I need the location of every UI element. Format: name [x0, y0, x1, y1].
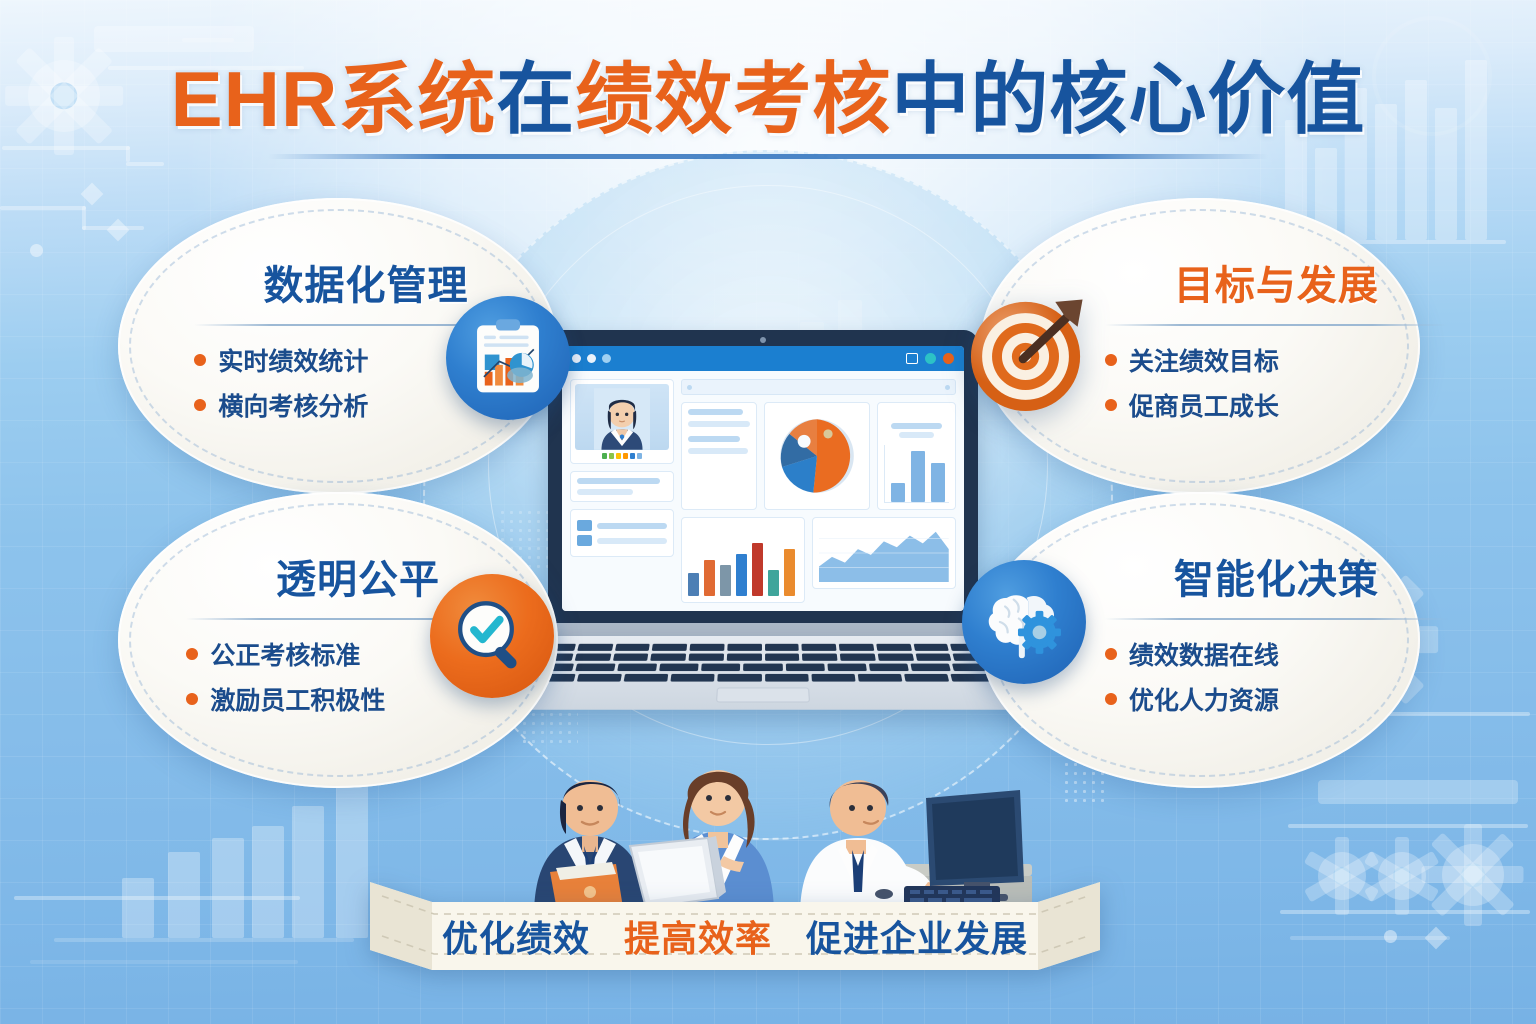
bullet-text: 公正考核标准 [210, 636, 360, 672]
window-controls[interactable] [572, 354, 611, 363]
bar-series [884, 445, 949, 503]
list-item: 绩效数据在线 [1105, 636, 1448, 672]
form-fields-tile [681, 402, 757, 510]
profile-fields-tile [570, 471, 674, 502]
title-segment-1: 系统 [338, 55, 496, 143]
title-segment-2: 在 [496, 55, 575, 143]
card-divider [1105, 618, 1448, 620]
bullet-text: 横向考核分析 [218, 387, 368, 423]
bullet-dot-icon [1105, 354, 1117, 366]
ribbon-phrase-0: 优化绩效 [442, 910, 590, 962]
window-icon[interactable] [906, 353, 918, 364]
laptop-lid [548, 330, 978, 623]
avatar-rating-bars [575, 453, 669, 459]
combo-bar-chart [681, 517, 805, 603]
screen [562, 346, 964, 611]
list-item [577, 520, 667, 531]
card-bullet-list: 关注绩效目标 促商员工成长 [1105, 342, 1448, 423]
bullet-dot-icon [1105, 648, 1117, 660]
title-underline [268, 154, 1268, 159]
title-segment-0: EHR [171, 55, 339, 143]
bar-series [688, 538, 795, 596]
ribbon-phrase-1: 提高效率 [624, 910, 772, 962]
dashboard-row-lower [681, 517, 956, 603]
dashboard-row-upper [681, 402, 956, 510]
bullet-dot-icon [186, 693, 198, 705]
teal-dot-icon[interactable] [925, 353, 936, 364]
list-item: 优化人力资源 [1105, 681, 1448, 717]
laptop-dashboard [548, 330, 978, 714]
list-tile [570, 509, 674, 557]
bullet-dot-icon [194, 354, 206, 366]
bullet-dot-icon [194, 399, 206, 411]
bullet-dot-icon [1105, 693, 1117, 705]
dashboard-right-column [681, 379, 956, 603]
bullet-text: 促商员工成长 [1129, 387, 1279, 423]
webcam-icon [760, 337, 766, 343]
card-heading: 目标与发展 [1105, 253, 1448, 311]
target-arrow-icon [966, 292, 1090, 416]
search-input[interactable] [681, 379, 956, 395]
brain-gear-icon [962, 560, 1086, 684]
card-divider [1105, 324, 1448, 326]
title-segment-3: 绩效考核 [575, 55, 891, 143]
dashboard-body [562, 371, 964, 611]
bottom-ribbon-banner: 优化绩效 提高效率 促进企业发展 [370, 872, 1100, 984]
bullet-text: 绩效数据在线 [1129, 636, 1279, 672]
infographic-poster: EHR系统在绩效考核中的核心价值 数据化管理 实时绩效统计 横向考核分析 透明公… [0, 0, 1536, 1024]
dashboard-left-column [570, 379, 674, 603]
area-chart [812, 517, 956, 589]
titlebar-actions[interactable] [906, 353, 954, 364]
pie-chart [764, 402, 870, 510]
avatar [570, 379, 674, 464]
list-item: 关注绩效目标 [1105, 342, 1448, 378]
list-item: 促商员工成长 [1105, 387, 1448, 423]
bar-chart [877, 402, 956, 510]
bullet-dot-icon [1105, 399, 1117, 411]
card-heading: 智能化决策 [1105, 547, 1448, 605]
magnifier-check-icon [430, 574, 554, 698]
ribbon-phrase-2: 促进企业发展 [806, 910, 1028, 962]
bullet-text: 激励员工积极性 [210, 681, 385, 717]
poster-header: EHR系统在绩效考核中的核心价值 [0, 60, 1536, 159]
bullet-text: 关注绩效目标 [1129, 342, 1279, 378]
bullet-text: 实时绩效统计 [218, 342, 368, 378]
page-title: EHR系统在绩效考核中的核心价值 [0, 60, 1536, 138]
app-titlebar [562, 346, 964, 371]
card-bullet-list: 绩效数据在线 优化人力资源 [1105, 636, 1448, 717]
orange-dot-icon[interactable] [943, 353, 954, 364]
list-item [577, 535, 667, 546]
title-segment-4: 中的核心价值 [891, 55, 1365, 143]
clipboard-chart-icon [446, 296, 570, 420]
ribbon-text: 优化绩效 提高效率 促进企业发展 [370, 880, 1100, 992]
bullet-text: 优化人力资源 [1129, 681, 1279, 717]
laptop-hinge [530, 623, 996, 636]
bullet-dot-icon [186, 648, 198, 660]
